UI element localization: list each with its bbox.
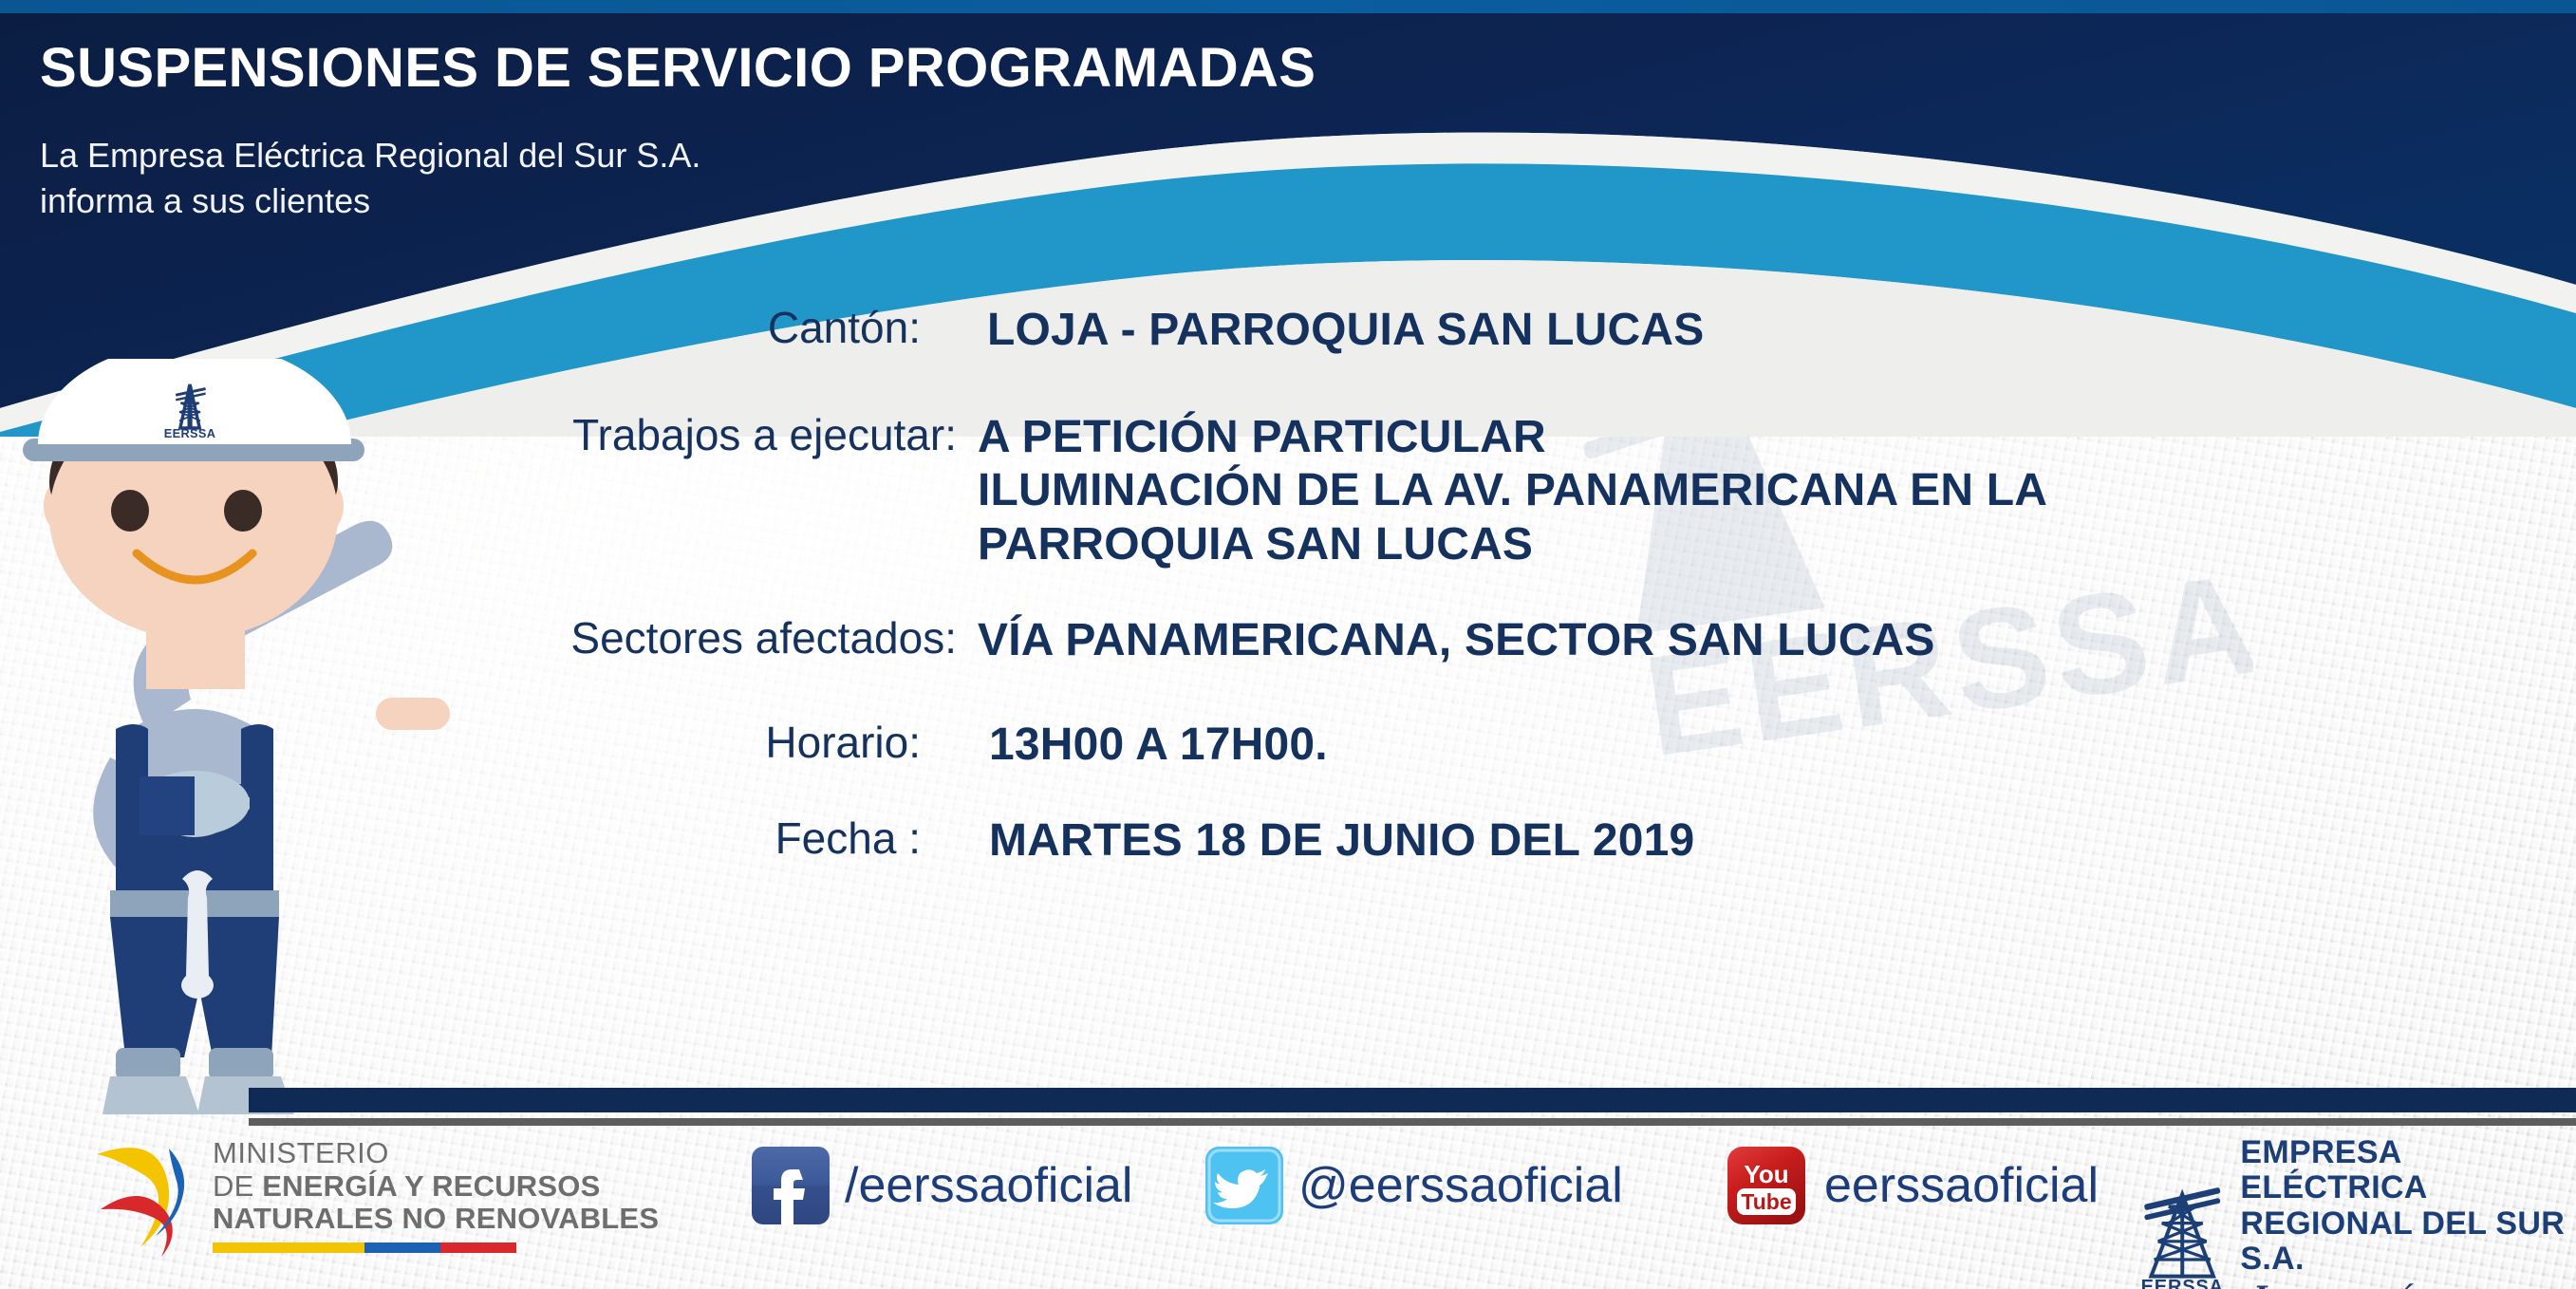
ministry-line-2-light: DE [213,1169,262,1203]
field-label-trabajos: Trabajos a ejecutar: [0,411,978,459]
footer-divider-navy [249,1088,2576,1112]
ecuador-flag-bar [213,1242,516,1253]
ministry-line-1: MINISTERIO [213,1137,659,1170]
ministry-logo: MINISTERIO DE ENERGÍA Y RECURSOS NATURAL… [82,1128,659,1262]
flag-stripe-blue [364,1242,440,1253]
field-value-canton: LOJA - PARROQUIA SAN LUCAS [987,304,1704,358]
field-label-horario: Horario: [0,719,978,767]
ministry-line-2-bold: ENERGÍA Y RECURSOS [262,1169,600,1203]
ecuador-ministry-icon [82,1128,203,1262]
poster-canvas: EERSSA SUSPENSIONES DE SERVICIO PROGRAMA… [0,0,2576,1289]
ministry-line-3: NATURALES NO RENOVABLES [213,1203,659,1236]
field-row-trabajos: Trabajos a ejecutar: A PETICIÓN PARTICUL… [0,411,2576,572]
eerssa-slogan: ¡La energía somos todos! [2240,1281,2576,1289]
footer-divider-gray [249,1118,2576,1126]
svg-text:You: You [1744,1160,1788,1188]
social-twitter[interactable]: @eerssaoficial [1204,1145,1623,1226]
transmission-tower-icon: EERSSA [2137,1169,2227,1289]
field-value-sectores: VÍA PANAMERICANA, SECTOR SAN LUCAS [978,614,1935,668]
youtube-icon[interactable]: You Tube [1726,1145,1807,1226]
facebook-handle[interactable]: /eerssaoficial [845,1157,1132,1214]
social-facebook[interactable]: /eerssaoficial [750,1145,1132,1226]
field-label-fecha: Fecha : [0,814,978,863]
facebook-icon[interactable] [750,1145,831,1226]
field-value-fecha: MARTES 18 DE JUNIO DEL 2019 [989,814,1694,869]
ministry-wordmark: MINISTERIO DE ENERGÍA Y RECURSOS NATURAL… [213,1137,659,1253]
field-row-sectores: Sectores afectados: VÍA PANAMERICANA, SE… [0,614,2576,668]
field-value-horario: 13H00 A 17H00. [989,719,1328,773]
field-row-canton: Cantón: LOJA - PARROQUIA SAN LUCAS [0,304,2576,358]
youtube-handle[interactable]: eerssaoficial [1824,1157,2099,1214]
svg-text:EERSSA: EERSSA [2141,1277,2224,1289]
social-youtube[interactable]: You Tube eerssaoficial [1726,1145,2099,1226]
flag-stripe-yellow [213,1242,364,1253]
ministry-line-2: DE ENERGÍA Y RECURSOS [213,1170,659,1204]
page-subtitle: La Empresa Eléctrica Regional del Sur S.… [40,133,700,224]
flag-stripe-red [440,1242,516,1253]
page-title: SUSPENSIONES DE SERVICIO PROGRAMADAS [40,36,1316,100]
field-label-canton: Cantón: [0,304,978,352]
field-value-trabajos: A PETICIÓN PARTICULAR ILUMINACIÓN DE LA … [978,411,2047,572]
eerssa-wordmark: EMPRESA ELÉCTRICA REGIONAL DEL SUR S.A. … [2240,1135,2576,1289]
twitter-handle[interactable]: @eerssaoficial [1298,1157,1623,1214]
field-row-horario: Horario: 13H00 A 17H00. [0,719,2576,773]
svg-text:Tube: Tube [1741,1189,1791,1214]
twitter-icon[interactable] [1204,1145,1285,1226]
eerssa-line-1: EMPRESA ELÉCTRICA [2240,1135,2576,1206]
eerssa-line-2: REGIONAL DEL SUR S.A. [2240,1206,2576,1278]
notice-fields: Cantón: LOJA - PARROQUIA SAN LUCAS Traba… [0,304,2576,900]
field-row-fecha: Fecha : MARTES 18 DE JUNIO DEL 2019 [0,814,2576,869]
field-label-sectores: Sectores afectados: [0,614,978,663]
eerssa-corporate-logo: EERSSA EMPRESA ELÉCTRICA REGIONAL DEL SU… [2137,1135,2576,1289]
